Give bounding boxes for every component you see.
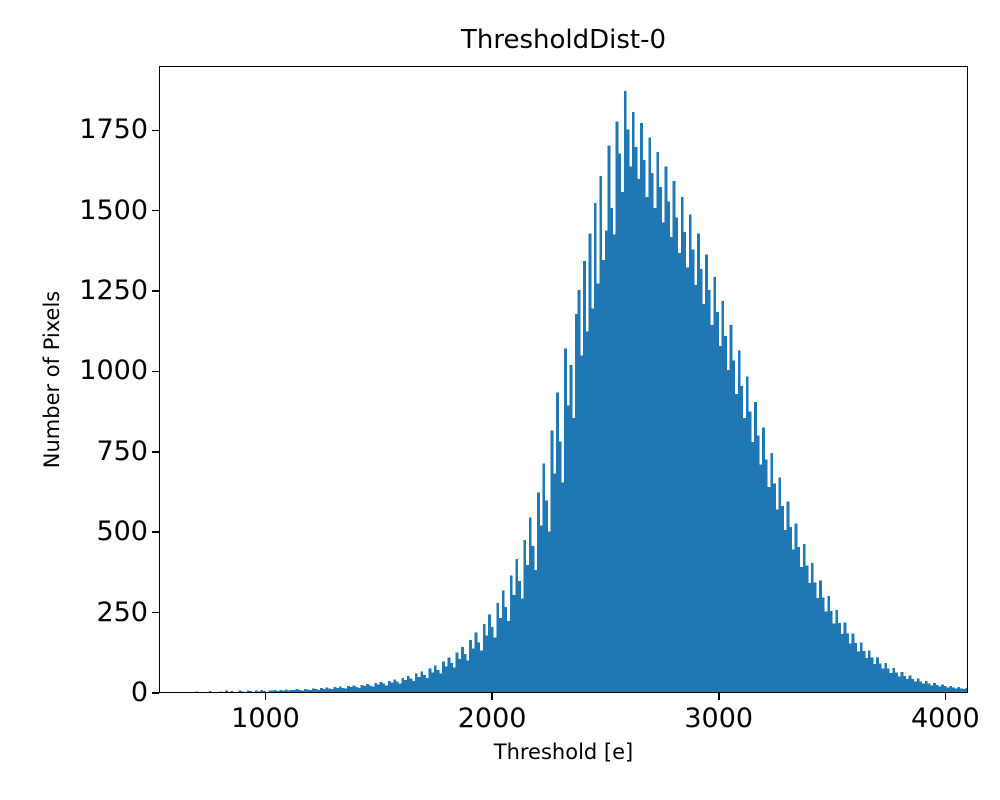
histogram-bars-svg	[160, 67, 967, 692]
histogram-bars	[160, 67, 967, 692]
y-axis-tick-label: 1500	[79, 197, 148, 224]
y-axis-tick-mark	[152, 451, 159, 453]
x-axis-tick-label: 3000	[659, 703, 779, 734]
x-axis-label: Threshold [e]	[159, 740, 968, 765]
y-axis-tick-mark	[152, 612, 159, 614]
x-axis-tick-mark	[718, 693, 720, 700]
x-axis-tick-mark	[265, 693, 267, 700]
y-axis-tick-mark	[152, 371, 159, 373]
histogram-bar-path	[195, 91, 967, 692]
page-title: ThresholdDist-0	[159, 25, 968, 55]
y-axis-tick-mark	[152, 210, 159, 212]
x-axis-tick-marks	[159, 693, 968, 701]
x-axis-tick-label: 1000	[206, 703, 326, 734]
y-axis-tick-label: 500	[96, 518, 148, 545]
y-axis-tick-label: 1250	[79, 277, 148, 304]
x-axis-tick-mark	[945, 693, 947, 700]
figure-canvas: ThresholdDist-0 025050075010001250150017…	[0, 0, 1000, 800]
y-axis-tick-label: 750	[96, 438, 148, 465]
plot-area	[159, 66, 968, 693]
y-axis-tick-mark	[152, 692, 159, 694]
y-axis-tick-label: 250	[96, 599, 148, 626]
x-axis-tick-label: 4000	[885, 703, 1000, 734]
y-axis-tick-label: 0	[131, 679, 148, 706]
y-axis-tick-mark	[152, 290, 159, 292]
x-axis-tick-mark	[491, 693, 493, 700]
y-axis-tick-mark	[152, 531, 159, 533]
y-axis-label: Number of Pixels	[40, 66, 76, 693]
y-axis-tick-mark	[152, 130, 159, 132]
y-axis-tick-label: 1750	[79, 116, 148, 143]
x-axis-tick-labels: 1000200030004000	[159, 703, 968, 739]
x-axis-tick-label: 2000	[432, 703, 552, 734]
y-axis-tick-label: 1000	[79, 357, 148, 384]
